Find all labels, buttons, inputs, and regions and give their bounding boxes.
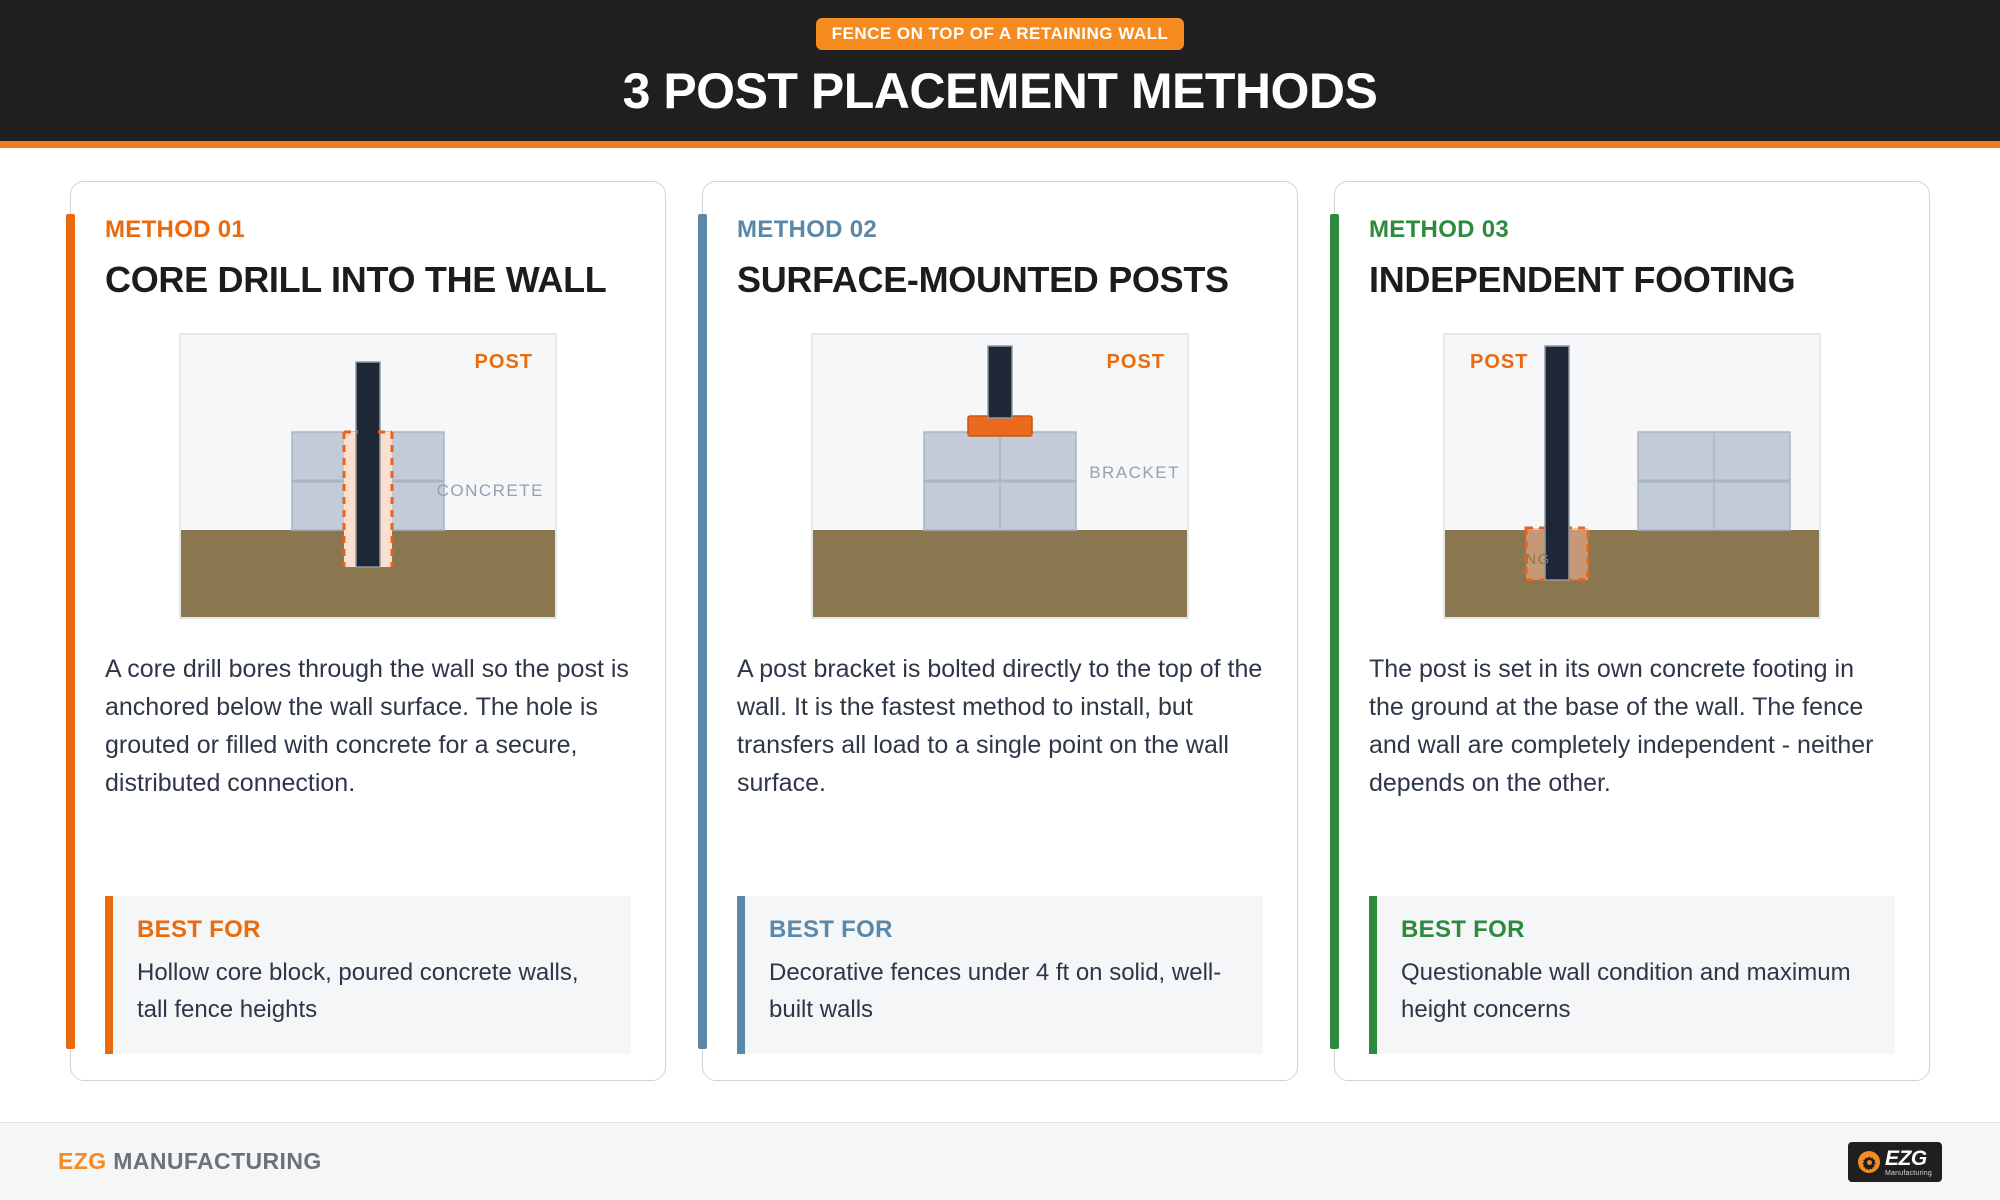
best-for-title: BEST FOR (1401, 918, 1871, 942)
svg-text:POST: POST (1107, 351, 1165, 373)
ezg-logo: EZG Manufacturing (1848, 1142, 1942, 1182)
core-drill-diagram: POST CONCRETE (178, 332, 558, 620)
best-for-accent-bar (105, 896, 113, 1054)
infographic-page: FENCE ON TOP OF A RETAINING WALL 3 POST … (0, 0, 2000, 1200)
svg-text:POST: POST (1470, 351, 1528, 373)
footer: EZG MANUFACTURING EZG Manufacturing (0, 1122, 2000, 1200)
cards-container: METHOD 01 CORE DRILL INTO THE WALL (0, 148, 2000, 1122)
footer-brand: EZG MANUFACTURING (58, 1148, 322, 1175)
logo-tagline: Manufacturing (1885, 1170, 1932, 1177)
best-for-text: Questionable wall condition and maximum … (1401, 954, 1871, 1028)
header-accent-rule (0, 141, 2000, 148)
card-accent-bar (1330, 214, 1339, 1049)
best-for-text: Decorative fences under 4 ft on solid, w… (769, 954, 1239, 1028)
best-for-box: BEST FOR Hollow core block, poured concr… (105, 896, 631, 1054)
page-title: 3 POST PLACEMENT METHODS (623, 66, 1378, 116)
card-description: The post is set in its own concrete foot… (1369, 650, 1895, 802)
method-label: METHOD 02 (737, 218, 1263, 242)
best-for-text: Hollow core block, poured concrete walls… (137, 954, 607, 1028)
gear-icon (1858, 1151, 1880, 1173)
method-card-03[interactable]: METHOD 03 INDEPENDENT FOOTING (1334, 181, 1930, 1081)
best-for-title: BEST FOR (137, 918, 607, 942)
best-for-box: BEST FOR Decorative fences under 4 ft on… (737, 896, 1263, 1054)
method-card-01[interactable]: METHOD 01 CORE DRILL INTO THE WALL (70, 181, 666, 1081)
method-card-02[interactable]: METHOD 02 SURFACE-MOUNTED POSTS POST (702, 181, 1298, 1081)
card-accent-bar (66, 214, 75, 1049)
svg-text:POST: POST (475, 351, 533, 373)
card-title: INDEPENDENT FOOTING (1369, 260, 1895, 304)
card-description: A core drill bores through the wall so t… (105, 650, 631, 802)
method-label: METHOD 01 (105, 218, 631, 242)
surface-mount-diagram: POST BRACKET (810, 332, 1190, 620)
best-for-accent-bar (737, 896, 745, 1054)
method-label: METHOD 03 (1369, 218, 1895, 242)
best-for-accent-bar (1369, 896, 1377, 1054)
logo-text: EZG Manufacturing (1885, 1148, 1932, 1177)
best-for-title: BEST FOR (769, 918, 1239, 942)
svg-text:FOOTING: FOOTING (1472, 551, 1551, 568)
card-title: CORE DRILL INTO THE WALL (105, 260, 631, 304)
svg-text:CONCRETE: CONCRETE (437, 481, 544, 500)
footer-brand-secondary: MANUFACTURING (106, 1148, 321, 1174)
card-title: SURFACE-MOUNTED POSTS (737, 260, 1263, 304)
independent-footing-diagram: POST FOOTING (1442, 332, 1822, 620)
footer-brand-primary: EZG (58, 1148, 106, 1174)
card-description: A post bracket is bolted directly to the… (737, 650, 1263, 802)
card-accent-bar (698, 214, 707, 1049)
header-eyebrow-badge: FENCE ON TOP OF A RETAINING WALL (816, 18, 1185, 50)
best-for-box: BEST FOR Questionable wall condition and… (1369, 896, 1895, 1054)
svg-text:BRACKET: BRACKET (1089, 463, 1180, 482)
logo-wordmark: EZG (1885, 1148, 1932, 1169)
header: FENCE ON TOP OF A RETAINING WALL 3 POST … (0, 0, 2000, 148)
